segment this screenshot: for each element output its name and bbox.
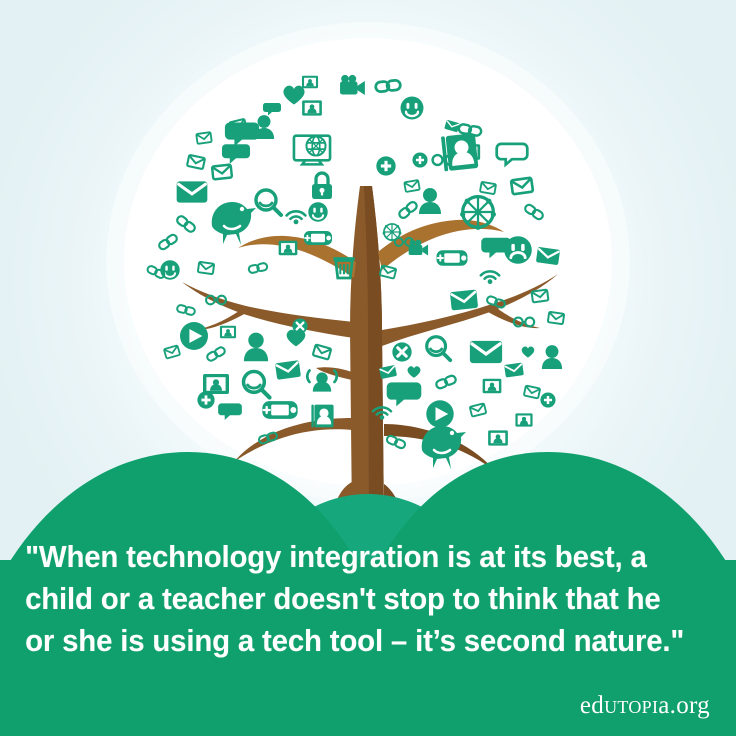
quote-line-2: child or a teacher doesn't stop to think… <box>25 578 685 620</box>
logo-part-ed: ed <box>580 692 604 719</box>
logo-part-utopi: utopi <box>604 692 658 719</box>
logo-part-aorg: a.org <box>658 692 710 719</box>
quote-line-3: or she is using a tech tool – it’s secon… <box>25 620 685 662</box>
quote-line-1: "When technology integration is at its b… <box>25 536 685 578</box>
quote-text: "When technology integration is at its b… <box>0 536 710 662</box>
edutopia-logo[interactable]: edutopia.org <box>580 693 710 718</box>
poster-canvas: "When technology integration is at its b… <box>0 0 736 736</box>
